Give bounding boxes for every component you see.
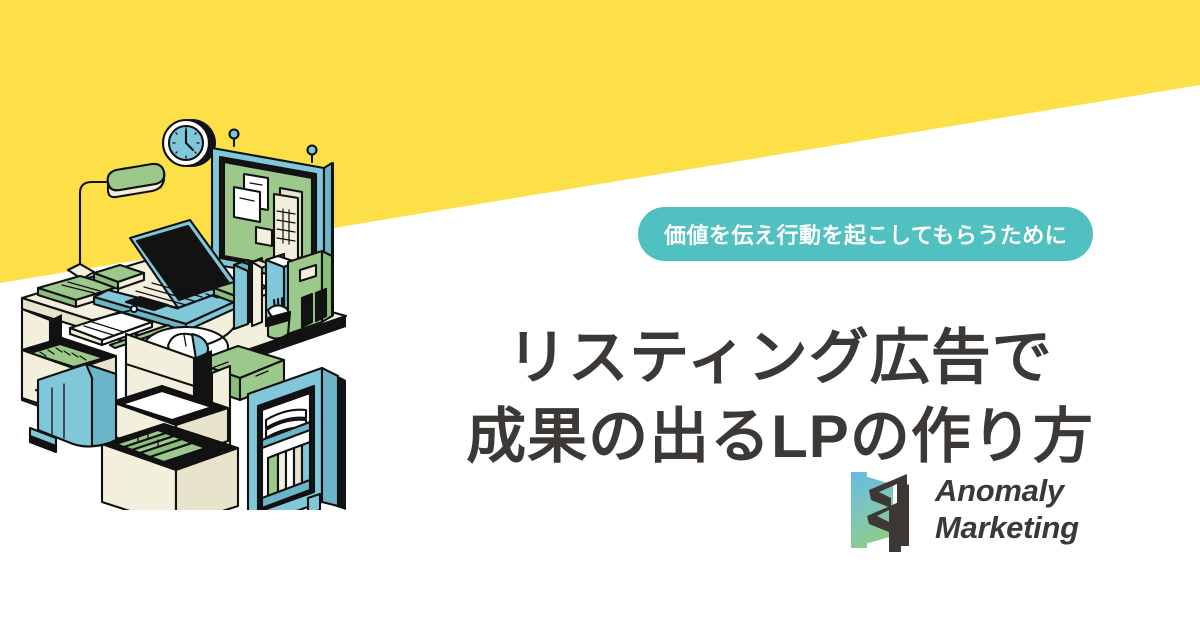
content-column: 価値を伝え行動を起こしてもらうために リスティング広告で 成果の出るLPの作り方 xyxy=(440,0,1200,630)
og-image-canvas: .o { stroke:#111; stroke-width:2.1; stro… xyxy=(0,0,1200,630)
page-title-line-2: 成果の出るLPの作り方 xyxy=(440,397,1120,476)
anomaly-gradient-bolt-mark-icon xyxy=(845,468,921,552)
sticky-note xyxy=(256,227,272,246)
wall-clock xyxy=(163,119,216,167)
eyebrow-badge: 価値を伝え行動を起こしてもらうために xyxy=(638,207,1093,261)
calendar-sheet xyxy=(274,188,302,262)
brand-name-line-1: Anomaly xyxy=(935,473,1079,510)
brand-logo: Anomaly Marketing xyxy=(845,468,1079,552)
isometric-desk-illustration: .o { stroke:#111; stroke-width:2.1; stro… xyxy=(16,110,416,510)
side-bookshelf xyxy=(248,368,346,510)
page-title-line-1: リスティング広告で xyxy=(440,318,1120,397)
page-title: リスティング広告で 成果の出るLPの作り方 xyxy=(440,318,1120,476)
brand-logo-wordmark: Anomaly Marketing xyxy=(935,473,1079,546)
brand-name-line-2: Marketing xyxy=(935,510,1079,547)
eyebrow-badge-label: 価値を伝え行動を起こしてもらうために xyxy=(664,218,1067,250)
